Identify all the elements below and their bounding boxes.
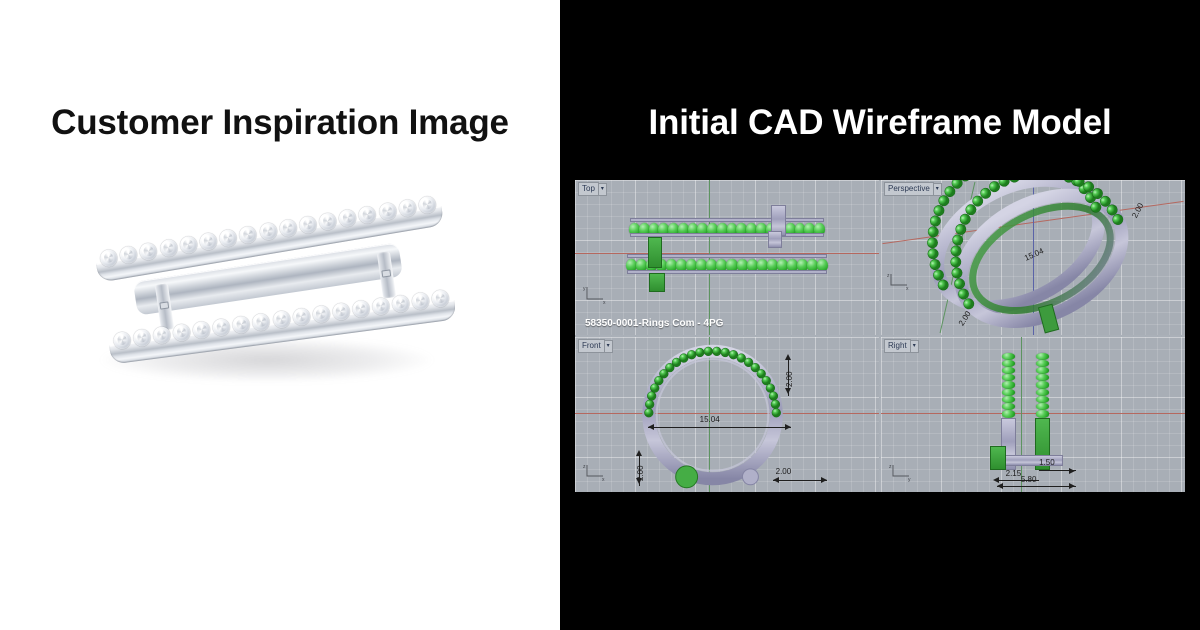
diamond-stone (99, 248, 119, 268)
axis-gizmo-right: z y (889, 462, 913, 482)
right-panel: Initial CAD Wireframe Model Top ▾ (560, 0, 1200, 630)
chevron-down-icon[interactable]: ▾ (599, 183, 607, 196)
diamond-stone (212, 317, 231, 336)
diamond-stone (331, 302, 350, 321)
diamond-stone (418, 195, 438, 215)
svg-text:z: z (889, 464, 892, 470)
diamond-stone (252, 312, 271, 331)
top-band-a-rail-top (630, 218, 825, 222)
cad-gem (772, 408, 781, 417)
cad-gem (695, 348, 704, 357)
viewport-right-label-text: Right (884, 339, 911, 353)
cad-gem (1036, 389, 1049, 396)
front-dim-inner-diameter: 15.04 (700, 415, 720, 424)
diamond-stone (159, 238, 179, 258)
diamond-stone (398, 198, 418, 218)
diamond-stone (152, 325, 171, 344)
axis-gizmo-perspective: z x (887, 271, 911, 291)
cad-gem (1002, 403, 1015, 410)
cad-gem (647, 392, 656, 401)
cad-gem (721, 348, 730, 357)
diamond-stone (351, 299, 370, 318)
right-dim-2: 2.15 (1006, 469, 1022, 478)
cad-gem (1036, 396, 1049, 403)
cad-gem (1002, 374, 1015, 381)
diamond-stone (358, 205, 378, 225)
cad-gem (1036, 360, 1049, 367)
cad-gem (1002, 367, 1015, 374)
chevron-down-icon[interactable]: ▾ (605, 340, 613, 353)
viewport-perspective-label[interactable]: Perspective ▾ (884, 182, 942, 196)
cad-gem (1002, 410, 1015, 417)
right-band-b-gem-column (1036, 353, 1048, 418)
diamond-stone (298, 215, 318, 235)
right-dim-215-arrow (993, 477, 999, 483)
right-bottom-tab (990, 446, 1005, 471)
cad-gem (1002, 396, 1015, 403)
right-band-a-gem-column (1003, 353, 1015, 418)
axis-gizmo-front: z x (583, 462, 607, 482)
cad-gem (926, 225, 940, 239)
right-panel-heading: Initial CAD Wireframe Model (560, 104, 1200, 143)
front-dim-2c-arrow-left (773, 477, 779, 483)
viewport-front-label-text: Front (578, 339, 605, 353)
cad-gem (687, 350, 696, 359)
front-dim-15-arrow-left (648, 424, 654, 430)
right-dim-580-arrow-right (1069, 483, 1075, 489)
diamond-stone (278, 218, 298, 238)
diamond-stone (232, 315, 251, 334)
cad-gem (928, 214, 942, 228)
diamond-stone (179, 235, 199, 255)
diamond-stone (378, 201, 398, 221)
viewport-front-label[interactable]: Front ▾ (578, 339, 613, 353)
cad-gem (645, 400, 654, 409)
diamond-stone (113, 330, 132, 349)
svg-text:x: x (602, 477, 605, 482)
cad-gem (1036, 367, 1049, 374)
front-dim-band-width-lower-left: 2.00 (636, 466, 645, 482)
right-dim-1: 1.50 (1039, 458, 1055, 467)
front-dim-15-arrow-right (785, 424, 791, 430)
cad-filename-label: 58350-0001-Rings Com - 4PG (585, 318, 723, 329)
diamond-stone (198, 231, 218, 251)
diamond-stone (292, 307, 311, 326)
diamond-stone (238, 225, 258, 245)
diamond-stone (218, 228, 238, 248)
svg-text:y: y (908, 477, 911, 482)
axis-line-x (881, 413, 1185, 414)
connector-notch-left (159, 301, 169, 309)
diamond-stone (431, 289, 450, 308)
right-dim-580-arrow-left (997, 483, 1003, 489)
svg-text:y: y (583, 286, 586, 292)
viewport-top[interactable]: Top ▾ y (575, 180, 879, 335)
viewport-right[interactable]: Right ▾ 1.50 2.15 (881, 337, 1185, 492)
cad-screenshot: Top ▾ y (575, 180, 1185, 492)
cad-gem (1036, 374, 1049, 381)
front-dim-15-line (648, 427, 791, 428)
cad-gem (1036, 410, 1049, 417)
cad-gem (679, 354, 688, 363)
diamond-stone (318, 211, 338, 231)
chevron-down-icon[interactable]: ▾ (934, 183, 942, 196)
front-dim-band-width-upper: 2.00 (785, 371, 794, 387)
cad-gem (704, 347, 713, 356)
right-dim-580-line (997, 486, 1076, 487)
right-dim-3: 5.80 (1021, 475, 1037, 484)
svg-text:x: x (906, 286, 909, 291)
cad-gem (1002, 360, 1015, 367)
cad-gem (644, 408, 653, 417)
cad-gem (729, 350, 738, 359)
diamond-stone (258, 221, 278, 241)
svg-text:z: z (583, 464, 586, 470)
viewport-perspective[interactable]: Perspective ▾ (881, 180, 1185, 335)
viewport-top-label-text: Top (578, 182, 599, 196)
diamond-stone (192, 320, 211, 339)
top-connector-green-left (648, 237, 662, 268)
diamond-stone (172, 323, 191, 342)
diamond-stone (338, 208, 358, 228)
cad-gem (1002, 381, 1015, 388)
svg-text:z: z (887, 273, 890, 279)
left-panel-heading: Customer Inspiration Image (0, 104, 560, 143)
front-dim-2a-arrow-down (785, 388, 791, 394)
front-dim-2c-line (773, 480, 828, 481)
comparison-graphic: Customer Inspiration Image (0, 0, 1200, 630)
cad-gem (1036, 403, 1049, 410)
viewport-top-label[interactable]: Top ▾ (578, 182, 607, 196)
ring-photo-stage (62, 188, 472, 398)
cad-gem (1002, 353, 1015, 360)
svg-text:x: x (603, 300, 606, 305)
front-dim-2b-arrow-up (636, 450, 642, 456)
cad-gem (1002, 389, 1015, 396)
cad-gem (766, 384, 775, 393)
diamond-stone (311, 304, 330, 323)
diamond-stone (132, 328, 151, 347)
axis-gizmo-top: y x (583, 285, 607, 305)
diamond-stone (391, 294, 410, 313)
viewport-front[interactable]: Front ▾ 15.04 (575, 337, 879, 492)
chevron-down-icon[interactable]: ▾ (911, 340, 919, 353)
cad-gem (771, 400, 780, 409)
diamond-stone (139, 241, 159, 261)
connector-notch-right (381, 269, 391, 277)
diamond-stone (119, 245, 139, 265)
cad-gem (712, 347, 721, 356)
diamond-stone (371, 296, 390, 315)
cad-gem (1036, 353, 1049, 360)
cad-gem (769, 392, 778, 401)
front-dim-2c-arrow-right (821, 477, 827, 483)
front-dim-2a-arrow-up (785, 354, 791, 360)
diamond-stone (411, 291, 430, 310)
front-dim-band-width-lower-right: 2.00 (776, 467, 792, 476)
left-panel: Customer Inspiration Image (0, 0, 560, 630)
top-connector-mid (768, 231, 782, 248)
viewport-right-label[interactable]: Right ▾ (884, 339, 919, 353)
customer-inspiration-photo (62, 188, 472, 398)
cad-gem (1036, 381, 1049, 388)
top-connector-green-bottom (649, 273, 664, 292)
viewport-perspective-label-text: Perspective (884, 182, 934, 196)
front-ring-model (575, 337, 879, 492)
diamond-stone (272, 310, 291, 329)
right-dim-150-arrow (1069, 468, 1075, 474)
